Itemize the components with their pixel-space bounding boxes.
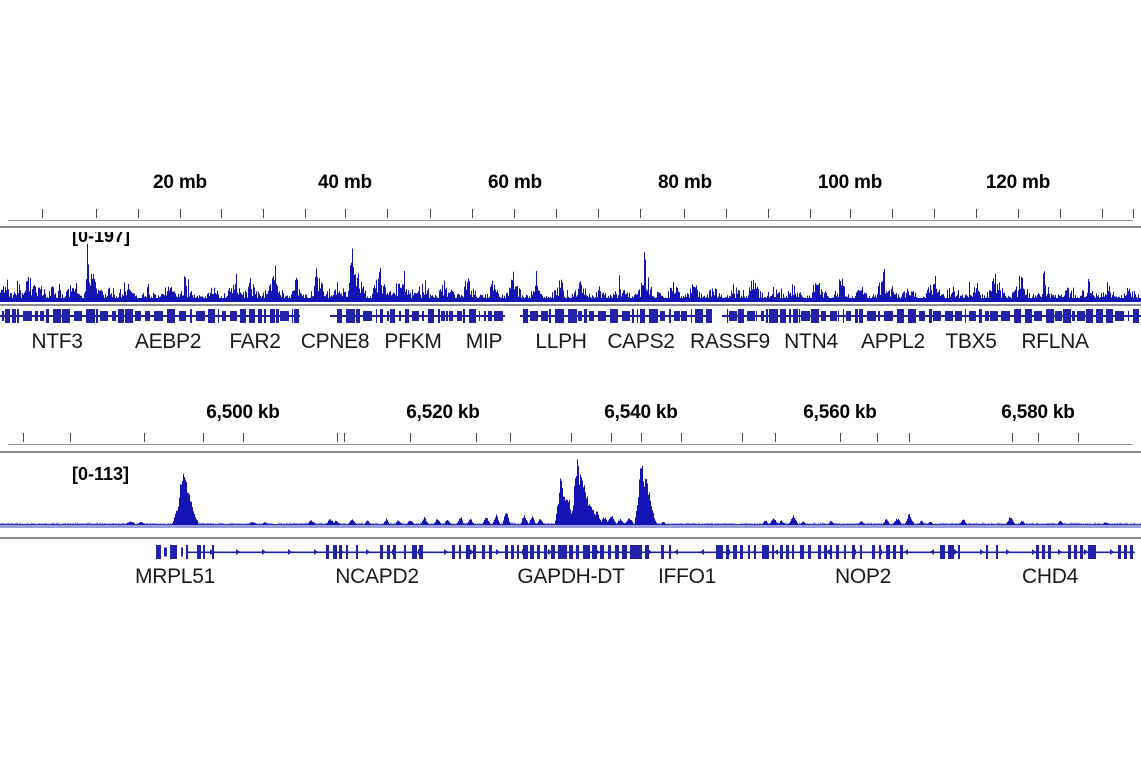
ruler-label: 6,500 kb (206, 402, 279, 424)
gene-label[interactable]: CPNE8 (301, 330, 370, 354)
gene-label[interactable]: NCAPD2 (335, 565, 418, 589)
ruler-kb[interactable]: 6,500 kb6,520 kb6,540 kb6,560 kb6,580 kb (0, 402, 1141, 462)
gene-annotation-track-gapdh-locus[interactable] (0, 542, 1141, 564)
ruler-tick (1038, 433, 1039, 442)
genome-browser-viewer[interactable]: 20 mb40 mb60 mb80 mb100 mb120 mb [0-197]… (0, 0, 1141, 768)
signal-track-whole-chromosome[interactable]: [0-197] (0, 232, 1141, 308)
ruler-axis-line (8, 220, 1133, 221)
ruler-tick (556, 209, 557, 218)
gene-model-row (0, 308, 1141, 328)
ruler-tick (976, 209, 977, 218)
ruler-tick (203, 433, 204, 442)
signal-range-label: [0-197] (72, 232, 130, 247)
panel-divider-top (0, 451, 1141, 453)
ruler-axis-line (8, 444, 1133, 445)
signal-track-gapdh-locus[interactable]: [0-113] (0, 456, 1141, 536)
gene-label[interactable]: APPL2 (861, 330, 925, 354)
signal-baseline (0, 525, 1141, 528)
ruler-label: 6,540 kb (604, 402, 677, 424)
ruler-tick (144, 433, 145, 442)
ruler-label: 60 mb (488, 172, 542, 194)
ruler-tick (877, 433, 878, 442)
ruler-tick (1133, 209, 1134, 218)
ruler-tick (23, 433, 24, 442)
ruler-tick (472, 209, 473, 218)
panel-whole-chromosome[interactable]: 20 mb40 mb60 mb80 mb100 mb120 mb [0-197]… (0, 172, 1141, 372)
ruler-tick (1078, 433, 1079, 442)
ruler-tick (305, 209, 306, 218)
ruler-tick (726, 209, 727, 218)
ruler-tick (742, 433, 743, 442)
ruler-tick (42, 209, 43, 218)
ruler-tick (430, 209, 431, 218)
gene-model-row (0, 542, 1141, 564)
ruler-tick (243, 433, 244, 442)
panel-gapdh-locus[interactable]: 6,500 kb6,520 kb6,540 kb6,560 kb6,580 kb… (0, 402, 1141, 602)
ruler-tick (221, 209, 222, 218)
ruler-label: 6,520 kb (406, 402, 479, 424)
ruler-tick (892, 209, 893, 218)
ruler-tick (510, 433, 511, 442)
ruler-label: 100 mb (818, 172, 882, 194)
gene-label-group-whole-chromosome: NTF3AEBP2FAR2CPNE8PFKMMIPLLPHCAPS2RASSF9… (0, 330, 1141, 358)
ruler-tick (138, 209, 139, 218)
ruler-tick (1018, 209, 1019, 218)
signal-range-label: [0-113] (72, 464, 129, 485)
ruler-label: 20 mb (153, 172, 207, 194)
gene-label[interactable]: GAPDH-DT (517, 565, 624, 589)
ruler-tick (571, 433, 572, 442)
gene-label[interactable]: PFKM (384, 330, 441, 354)
gene-label[interactable]: CAPS2 (607, 330, 674, 354)
panel-divider-bottom (0, 537, 1141, 539)
ruler-tick (611, 433, 612, 442)
ruler-tick (514, 209, 515, 218)
gene-label[interactable]: MIP (466, 330, 502, 354)
ruler-label: 6,560 kb (803, 402, 876, 424)
ruler-tick (768, 209, 769, 218)
ruler-tick (263, 209, 264, 218)
ruler-mb[interactable]: 20 mb40 mb60 mb80 mb100 mb120 mb (0, 172, 1141, 232)
ruler-tick (387, 209, 388, 218)
ruler-label-group: 6,500 kb6,520 kb6,540 kb6,560 kb6,580 kb (0, 402, 1141, 432)
ruler-tick (476, 433, 477, 442)
ruler-tick (1060, 209, 1061, 218)
gene-label[interactable]: TBX5 (945, 330, 996, 354)
ruler-tick (337, 433, 338, 442)
ruler-tick (96, 209, 97, 218)
gene-label[interactable]: CHD4 (1022, 565, 1078, 589)
ruler-tick (850, 209, 851, 218)
ruler-label: 80 mb (658, 172, 712, 194)
ruler-tick (1102, 209, 1103, 218)
ruler-tick (180, 209, 181, 218)
ruler-tick (344, 433, 345, 442)
ruler-tick (1012, 433, 1013, 442)
ruler-label-group: 20 mb40 mb60 mb80 mb100 mb120 mb (0, 172, 1141, 202)
ruler-tick (681, 433, 682, 442)
ruler-tick (684, 209, 685, 218)
ruler-tick (345, 209, 346, 218)
gene-label[interactable]: AEBP2 (135, 330, 201, 354)
ruler-tick (909, 433, 910, 442)
gene-label-group-gapdh-locus: MRPL51NCAPD2GAPDH-DTIFFO1NOP2CHD4 (0, 565, 1141, 593)
ruler-tick (410, 433, 411, 442)
ruler-tick (640, 209, 641, 218)
gene-label[interactable]: RFLNA (1021, 330, 1088, 354)
ruler-tick (598, 209, 599, 218)
gene-label[interactable]: MRPL51 (135, 565, 215, 589)
coverage-histogram (0, 456, 1141, 536)
coverage-histogram (0, 232, 1141, 308)
ruler-label: 120 mb (986, 172, 1050, 194)
gene-label[interactable]: NTN4 (784, 330, 838, 354)
gene-label[interactable]: FAR2 (229, 330, 280, 354)
ruler-tick (641, 433, 642, 442)
ruler-tick (775, 433, 776, 442)
gene-label[interactable]: IFFO1 (658, 565, 716, 589)
ruler-label: 6,580 kb (1001, 402, 1074, 424)
gene-label[interactable]: LLPH (535, 330, 586, 354)
gene-label[interactable]: RASSF9 (690, 330, 770, 354)
gene-annotation-track-whole-chromosome[interactable] (0, 308, 1141, 328)
ruler-tick (70, 433, 71, 442)
ruler-tick (840, 433, 841, 442)
panel-divider-top (0, 226, 1141, 228)
gene-label[interactable]: NTF3 (31, 330, 82, 354)
ruler-label: 40 mb (318, 172, 372, 194)
gene-label[interactable]: NOP2 (835, 565, 891, 589)
ruler-tick (934, 209, 935, 218)
ruler-tick (810, 209, 811, 218)
